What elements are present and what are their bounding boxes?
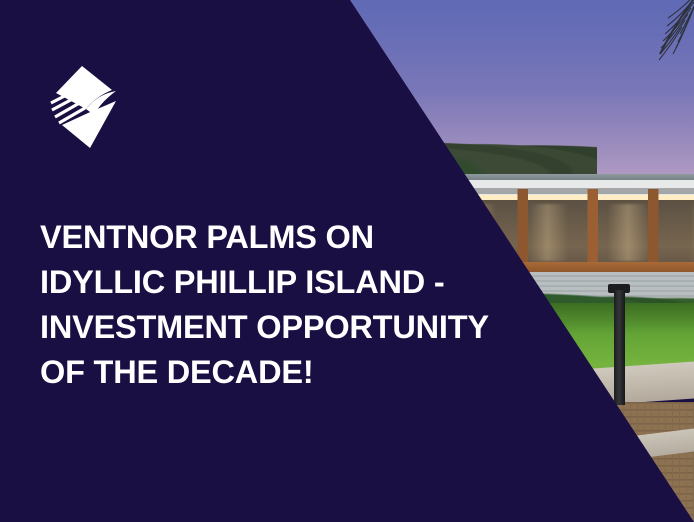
ventnor-palms-logo-icon[interactable] xyxy=(42,63,130,151)
page-title: VENTNOR PALMS ON IDYLLIC PHILLIP ISLAND … xyxy=(40,215,560,395)
light-pole xyxy=(614,290,624,405)
listing-hero-banner: VENTNOR PALMS ON IDYLLIC PHILLIP ISLAND … xyxy=(0,0,694,522)
